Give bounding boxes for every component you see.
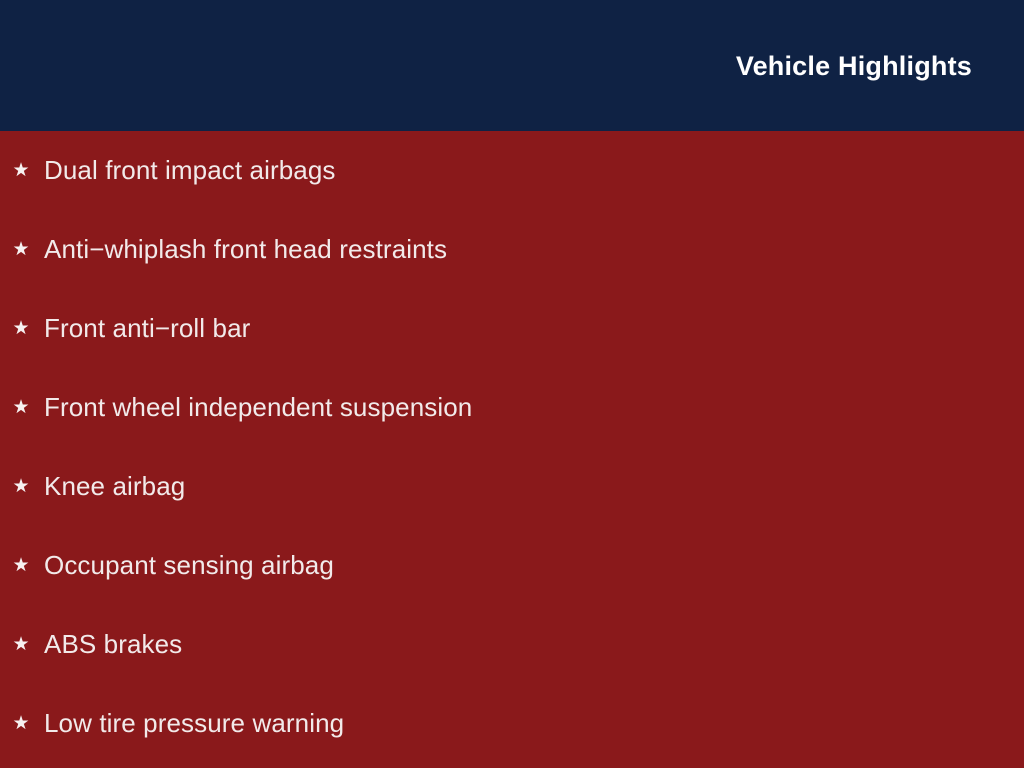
page-title: Vehicle Highlights [736, 53, 972, 80]
list-item-label: Low tire pressure warning [44, 709, 344, 738]
star-bullet-icon: ★ [8, 635, 34, 654]
star-bullet-icon: ★ [8, 161, 34, 180]
list-item: ★ ABS brakes [0, 605, 1024, 684]
star-bullet-icon: ★ [8, 714, 34, 733]
list-item: ★ Low tire pressure warning [0, 684, 1024, 763]
slide-body: ★ Dual front impact airbags ★ Anti−whipl… [0, 131, 1024, 768]
list-item-label: Knee airbag [44, 472, 185, 501]
list-item: ★ Front anti−roll bar [0, 289, 1024, 368]
list-item-label: Front anti−roll bar [44, 314, 250, 343]
star-bullet-icon: ★ [8, 398, 34, 417]
list-item-label: Occupant sensing airbag [44, 551, 334, 580]
list-item: ★ Dual front impact airbags [0, 131, 1024, 210]
list-item-label: ABS brakes [44, 630, 182, 659]
list-item: ★ Front wheel independent suspension [0, 368, 1024, 447]
list-item-label: Anti−whiplash front head restraints [44, 235, 447, 264]
list-item: ★ Occupant sensing airbag [0, 526, 1024, 605]
list-item-label: Dual front impact airbags [44, 156, 336, 185]
star-bullet-icon: ★ [8, 556, 34, 575]
list-item: ★ Anti−whiplash front head restraints [0, 210, 1024, 289]
star-bullet-icon: ★ [8, 477, 34, 496]
list-item-label: Front wheel independent suspension [44, 393, 472, 422]
star-bullet-icon: ★ [8, 240, 34, 259]
star-bullet-icon: ★ [8, 319, 34, 338]
list-item: ★ Knee airbag [0, 447, 1024, 526]
vehicle-highlights-list: ★ Dual front impact airbags ★ Anti−whipl… [0, 131, 1024, 763]
slide-header: Vehicle Highlights [0, 0, 1024, 131]
vehicle-highlights-slide: Vehicle Highlights ★ Dual front impact a… [0, 0, 1024, 768]
